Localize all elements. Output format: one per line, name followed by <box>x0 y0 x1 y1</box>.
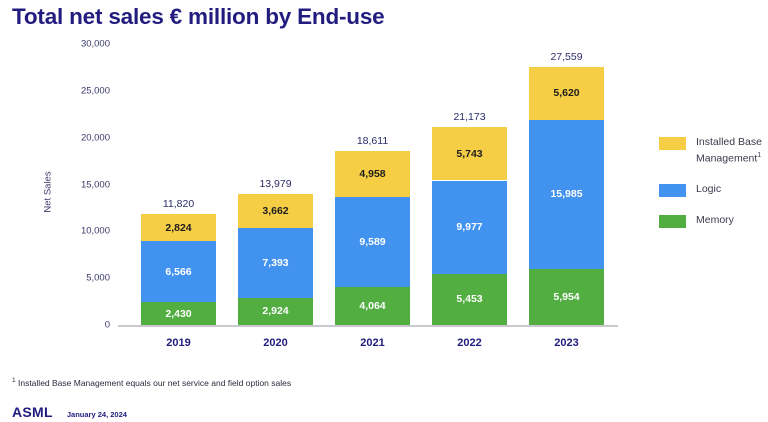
legend-label: Memory <box>696 214 734 227</box>
bar-segment-memory-2021[interactable]: 4,064 <box>335 287 410 325</box>
chart-legend: Installed Base Management1LogicMemory <box>659 136 764 245</box>
bar-segment-value-label: 2,430 <box>165 308 191 320</box>
bar-segment-memory-2020[interactable]: 2,924 <box>238 298 313 325</box>
asml-logo: ASML <box>12 404 53 420</box>
bar-segment-memory-2022[interactable]: 5,453 <box>432 274 507 325</box>
bar-group-2021[interactable]: 4,0649,5894,95818,6112021 <box>335 0 410 360</box>
bar-segment-installed-base-management-2020[interactable]: 3,662 <box>238 194 313 228</box>
bar-segment-installed-base-management-2022[interactable]: 5,743 <box>432 127 507 181</box>
bar-segment-value-label: 15,985 <box>550 188 582 200</box>
bar-segment-value-label: 4,958 <box>359 168 385 180</box>
bar-total-label-2021: 18,611 <box>357 135 388 147</box>
x-axis-label-2023: 2023 <box>554 337 578 349</box>
bar-segment-value-label: 3,662 <box>262 205 288 217</box>
legend-item-installed-base-management[interactable]: Installed Base Management1 <box>659 136 764 166</box>
stacked-bar[interactable]: 4,0649,5894,958 <box>335 151 410 325</box>
bar-segment-logic-2022[interactable]: 9,977 <box>432 181 507 274</box>
bar-segment-value-label: 9,589 <box>359 236 385 248</box>
legend-item-memory[interactable]: Memory <box>659 214 764 228</box>
bar-segment-logic-2019[interactable]: 6,566 <box>141 241 216 303</box>
legend-swatch-installed-base-management <box>659 137 686 150</box>
bar-segment-value-label: 2,924 <box>262 305 288 317</box>
footer-date: January 24, 2024 <box>67 410 127 419</box>
bar-segment-value-label: 5,954 <box>553 291 579 303</box>
bar-series-container: 2,4306,5662,82411,82020192,9247,3933,662… <box>0 0 640 360</box>
x-axis-label-2021: 2021 <box>360 337 384 349</box>
bar-segment-logic-2023[interactable]: 15,985 <box>529 120 604 270</box>
bar-group-2023[interactable]: 5,95415,9855,62027,5592023 <box>529 0 604 360</box>
legend-item-logic[interactable]: Logic <box>659 183 764 197</box>
bar-group-2019[interactable]: 2,4306,5662,82411,8202019 <box>141 0 216 360</box>
bar-segment-installed-base-management-2021[interactable]: 4,958 <box>335 151 410 197</box>
footnote: 1 Installed Base Management equals our n… <box>12 377 291 388</box>
bar-segment-memory-2019[interactable]: 2,430 <box>141 302 216 325</box>
stacked-bar[interactable]: 5,4539,9775,743 <box>432 127 507 325</box>
bar-segment-value-label: 5,453 <box>456 293 482 305</box>
bar-total-label-2023: 27,559 <box>550 51 582 63</box>
bar-segment-value-label: 5,743 <box>456 148 482 160</box>
bar-group-2020[interactable]: 2,9247,3933,66213,9792020 <box>238 0 313 360</box>
bar-segment-value-label: 7,393 <box>262 257 288 269</box>
legend-swatch-logic <box>659 184 686 197</box>
legend-label: Installed Base Management1 <box>696 136 764 166</box>
slide-footer: ASML January 24, 2024 <box>12 404 127 420</box>
slide-root: Total net sales € million by End-use 30,… <box>0 0 768 422</box>
legend-swatch-memory <box>659 215 686 228</box>
bar-segment-logic-2020[interactable]: 7,393 <box>238 228 313 297</box>
bar-segment-value-label: 4,064 <box>359 300 385 312</box>
stacked-bar[interactable]: 2,4306,5662,824 <box>141 214 216 325</box>
bar-total-label-2022: 21,173 <box>453 111 485 123</box>
stacked-bar[interactable]: 2,9247,3933,662 <box>238 194 313 325</box>
chart-plot-area: 30,00025,00020,00015,00010,0005,0000 Net… <box>0 0 640 360</box>
x-axis-label-2019: 2019 <box>166 337 190 349</box>
bar-segment-installed-base-management-2023[interactable]: 5,620 <box>529 67 604 120</box>
x-axis-label-2022: 2022 <box>457 337 481 349</box>
bar-segment-value-label: 2,824 <box>165 222 191 234</box>
bar-segment-logic-2021[interactable]: 9,589 <box>335 197 410 287</box>
footnote-text: Installed Base Management equals our net… <box>16 378 291 388</box>
bar-segment-installed-base-management-2019[interactable]: 2,824 <box>141 214 216 240</box>
stacked-bar[interactable]: 5,95415,9855,620 <box>529 67 604 325</box>
bar-segment-value-label: 6,566 <box>165 266 191 278</box>
bar-segment-value-label: 5,620 <box>553 87 579 99</box>
bar-group-2022[interactable]: 5,4539,9775,74321,1732022 <box>432 0 507 360</box>
legend-label: Logic <box>696 183 721 196</box>
bar-segment-value-label: 9,977 <box>456 221 482 233</box>
x-axis-label-2020: 2020 <box>263 337 287 349</box>
bar-total-label-2020: 13,979 <box>259 178 291 190</box>
bar-total-label-2019: 11,820 <box>163 198 194 210</box>
bar-segment-memory-2023[interactable]: 5,954 <box>529 269 604 325</box>
legend-superscript: 1 <box>757 152 761 159</box>
